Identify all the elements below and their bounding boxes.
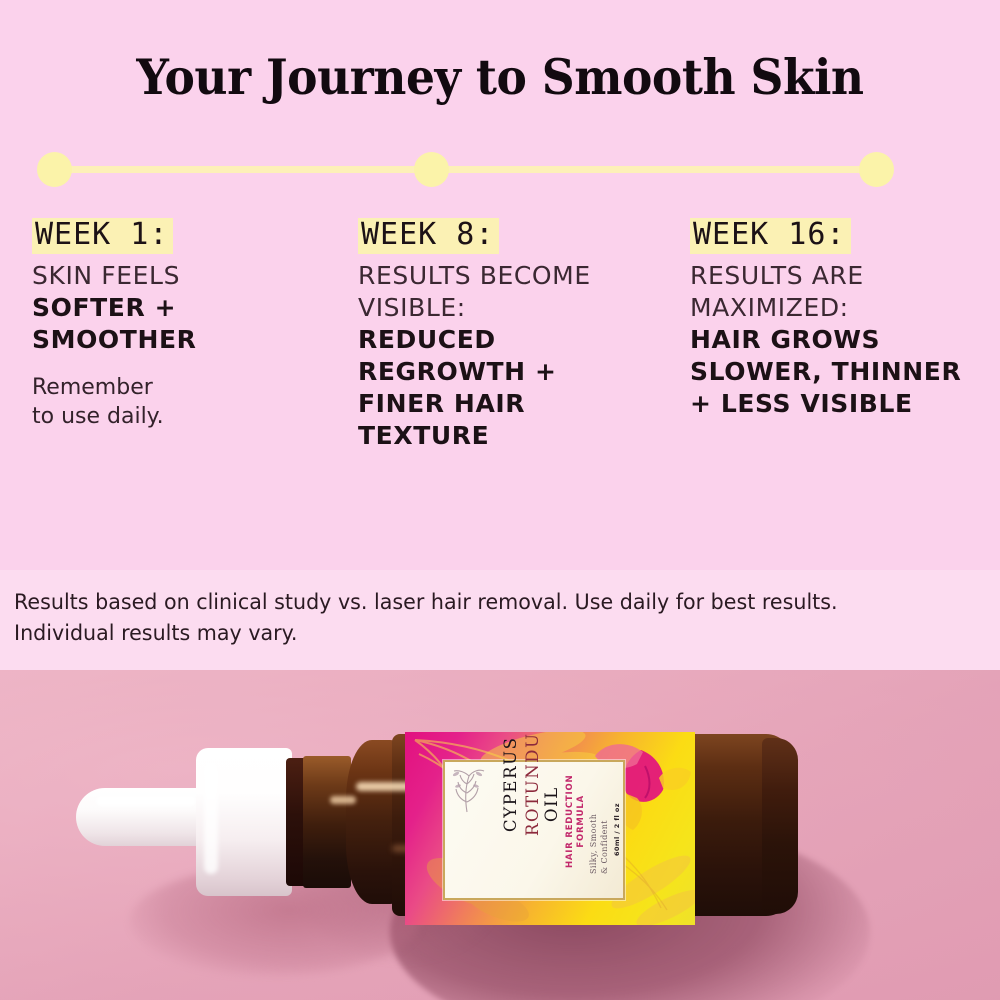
stage-note-line: to use daily. <box>32 402 332 431</box>
label-tagline: Silky, Smooth & Confident <box>588 814 610 874</box>
stage-regular-line: MAXIMIZED: <box>690 292 990 324</box>
footnote-line-1: Results based on clinical study vs. lase… <box>14 588 947 619</box>
label-tagline-line-1: Silky, Smooth <box>589 814 598 874</box>
stage-week-label: WEEK 16: <box>690 218 851 254</box>
bottle-base <box>762 738 798 914</box>
stage-column-week1: WEEK 1: SKIN FEELS SOFTER + SMOOTHER Rem… <box>32 218 332 431</box>
stage-note-line: Remember <box>32 373 332 402</box>
product-photo: CYPERUS ROTUNDUS OIL HAIR REDUCTION FORM… <box>0 670 1000 1000</box>
label-claim-line-2: FORMULA <box>576 795 586 848</box>
stage-week-label: WEEK 1: <box>32 218 173 254</box>
timeline-dot-week1 <box>37 152 72 187</box>
stage-regular-line: RESULTS ARE <box>690 260 990 292</box>
stage-bold-line: HAIR GROWS <box>690 324 990 356</box>
label-brand-line-3: OIL <box>544 786 561 822</box>
timeline <box>0 150 1000 190</box>
label-claim: HAIR REDUCTION FORMULA <box>565 775 588 868</box>
product-label: CYPERUS ROTUNDUS OIL HAIR REDUCTION FORM… <box>405 732 695 925</box>
botanical-sprig-icon <box>445 762 489 814</box>
stage-regular-line: VISIBLE: <box>358 292 678 324</box>
stage-regular-line: SKIN FEELS <box>32 260 332 292</box>
cap-highlight <box>204 762 218 874</box>
pipette-highlight <box>96 796 196 806</box>
stage-regular-line: RESULTS BECOME <box>358 260 678 292</box>
stage-bold-line: REGROWTH + <box>358 356 678 388</box>
label-tagline-line-2: & Confident <box>600 820 609 874</box>
stage-bold-line: SLOWER, THINNER <box>690 356 990 388</box>
timeline-dot-week8 <box>414 152 449 187</box>
info-panel: Your Journey to Smooth Skin WEEK 1: SKIN… <box>0 0 1000 570</box>
stage-bold-line: TEXTURE <box>358 420 678 452</box>
stage-bold-line: SOFTER + <box>32 292 332 324</box>
label-brand-line-1: CYPERUS <box>503 737 520 833</box>
stage-bold-line: FINER HAIR <box>358 388 678 420</box>
stage-column-week16: WEEK 16: RESULTS ARE MAXIMIZED: HAIR GRO… <box>690 218 990 420</box>
label-volume: 60ml / 2 fl oz <box>613 803 621 856</box>
label-inner-card: CYPERUS ROTUNDUS OIL HAIR REDUCTION FORM… <box>443 760 625 900</box>
footnote-band: Results based on clinical study vs. lase… <box>0 570 1000 670</box>
stage-bold-line: REDUCED <box>358 324 678 356</box>
infographic-page: Your Journey to Smooth Skin WEEK 1: SKIN… <box>0 0 1000 1000</box>
stage-week-label: WEEK 8: <box>358 218 499 254</box>
bottle-neck <box>303 756 351 888</box>
label-text-block: CYPERUS ROTUNDUS OIL HAIR REDUCTION FORM… <box>445 762 627 902</box>
page-title: Your Journey to Smooth Skin <box>35 48 965 106</box>
label-brand-line-2: ROTUNDUS <box>525 732 542 836</box>
footnote-line-2: Individual results may vary. <box>14 619 947 650</box>
timeline-track <box>55 166 877 173</box>
timeline-dot-week16 <box>859 152 894 187</box>
stage-bold-line: SMOOTHER <box>32 324 332 356</box>
label-claim-line-1: HAIR REDUCTION <box>565 775 575 868</box>
stage-column-week8: WEEK 8: RESULTS BECOME VISIBLE: REDUCED … <box>358 218 678 452</box>
stage-bold-line: + LESS VISIBLE <box>690 388 990 420</box>
glass-highlight <box>330 796 356 804</box>
